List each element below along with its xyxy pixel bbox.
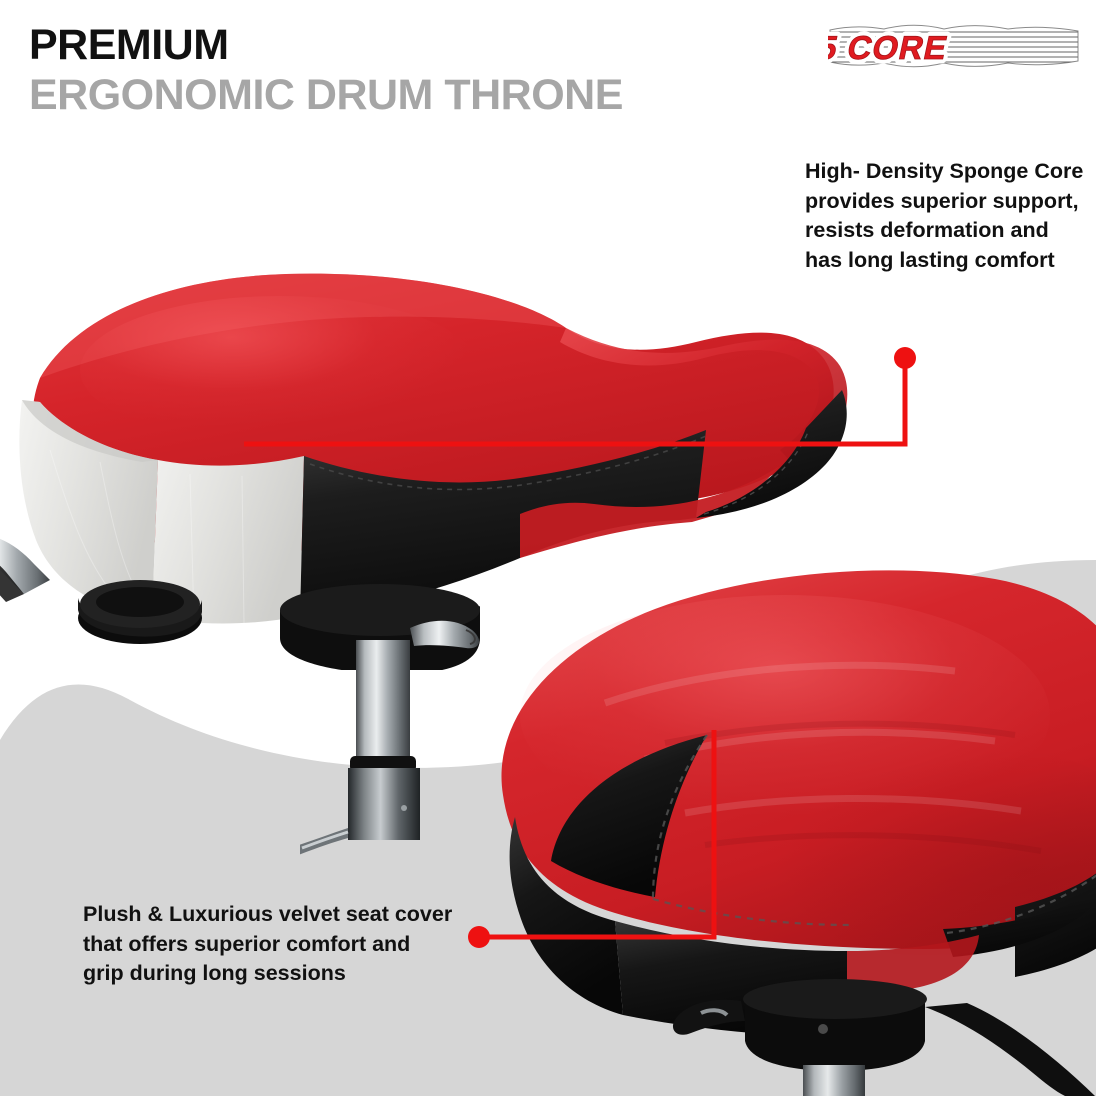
- velvet-seat-chrome-post: [803, 1065, 865, 1096]
- callout-text-plush-velvet-seat-cover: Plush & Luxurious velvet seat cover that…: [83, 900, 453, 989]
- base-leg: [300, 828, 348, 856]
- callout-dot-top: [894, 347, 916, 369]
- throne-chrome-post: [356, 640, 410, 762]
- infographic-canvas: PREMIUM ERGONOMIC DRUM THRONE: [0, 0, 1096, 1096]
- product-image-top-post: [300, 640, 480, 880]
- post-sleeve: [348, 768, 420, 840]
- brand-logo-text: 5 CORE: [828, 30, 951, 67]
- velvet-seat-support-arm: [925, 1003, 1095, 1096]
- brand-logo-icon: 5 CORE 5 CORE: [828, 24, 1080, 68]
- title-line-ergonomic-drum-throne: ERGONOMIC DRUM THRONE: [29, 70, 623, 120]
- product-image-velvet-seat-closeup: [455, 545, 1096, 1096]
- title-line-premium: PREMIUM: [29, 20, 623, 70]
- brand-logo-5core: 5 CORE 5 CORE: [828, 24, 1080, 68]
- page-title: PREMIUM ERGONOMIC DRUM THRONE: [29, 20, 623, 120]
- callout-text-high-density-sponge-core: High- Density Sponge Core provides super…: [805, 157, 1090, 275]
